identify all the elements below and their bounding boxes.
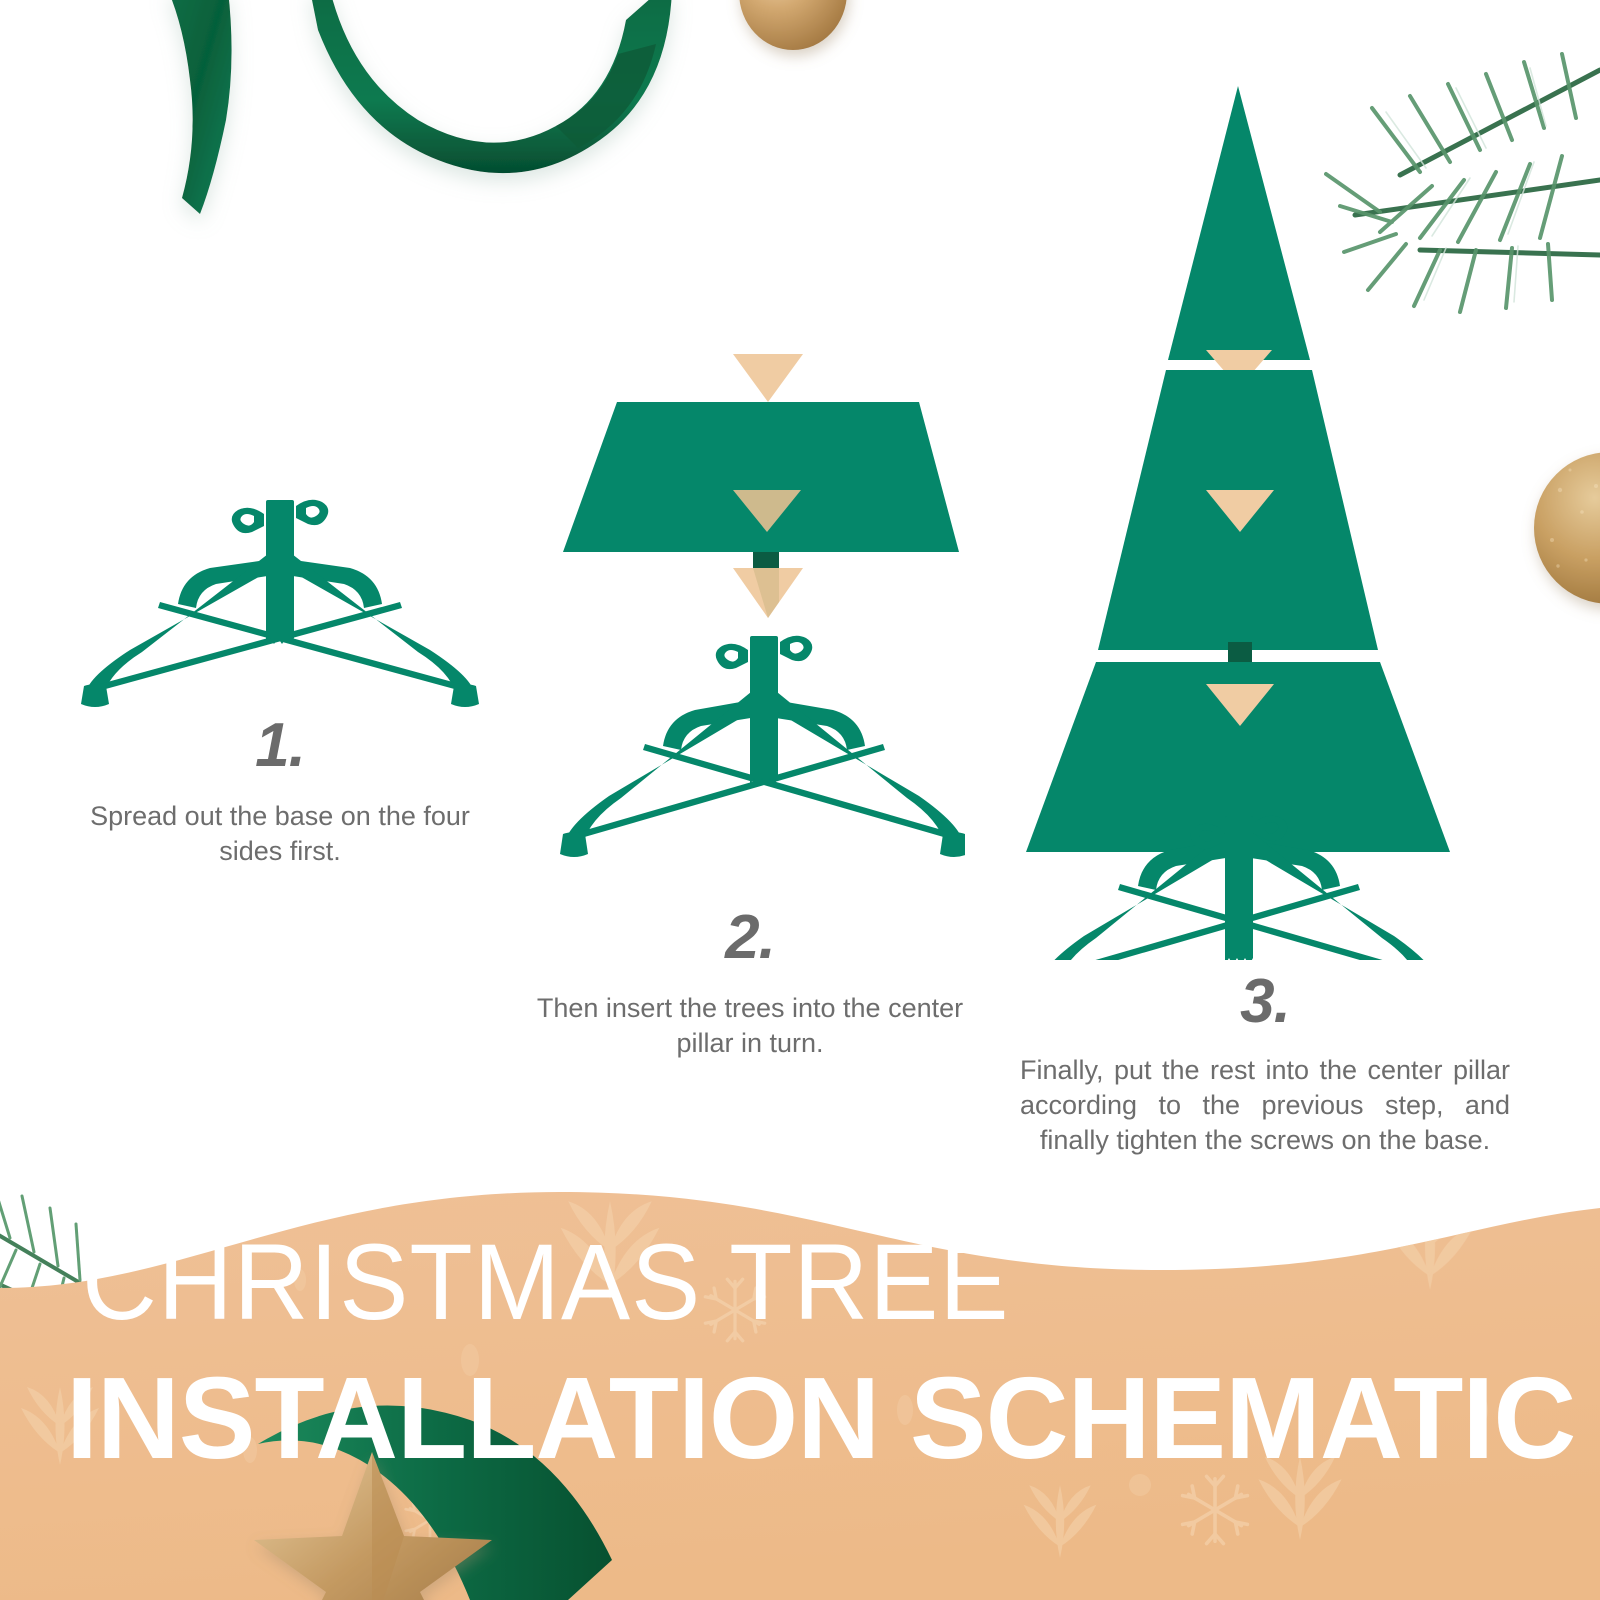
step-2-number: 2. [535,907,965,969]
step-1-caption: Spread out the base on the four sides fi… [70,799,490,869]
tree-tier-top-shape [1168,86,1310,360]
green-ribbon-top-left [168,0,672,214]
step-2: 2. Then insert the trees into the center… [535,340,965,1061]
step-2-caption: Then insert the trees into the center pi… [535,991,965,1061]
arrow-down-top-icon [733,354,803,402]
tree-section-over-stand-icon-step-2 [535,340,965,870]
tree-stand-icon-step-1 [70,480,490,710]
bottom-banner: CHRISTMAS TREE INSTALLATION SCHEMATIC [0,1120,1600,1600]
step-1: 1. Spread out the base on the four sides… [70,480,490,869]
banner-title-line-2: INSTALLATION SCHEMATIC [66,1360,1575,1476]
gold-glitter-ball-right [1534,452,1600,604]
step-3-number: 3. [1010,971,1520,1033]
banner-title-line-1: CHRISTMAS TREE [82,1228,1009,1336]
tree-section-shape [563,402,959,552]
full-tree-on-stand-icon-step-3 [1010,80,1520,960]
tree-stand-icon-step-2 [560,636,965,857]
infographic-page: 1. Spread out the base on the four sides… [0,0,1600,1600]
step-3: 3. Finally, put the rest into the center… [1010,80,1520,1158]
step-1-number: 1. [70,715,490,777]
gold-ornament-top [739,0,847,50]
